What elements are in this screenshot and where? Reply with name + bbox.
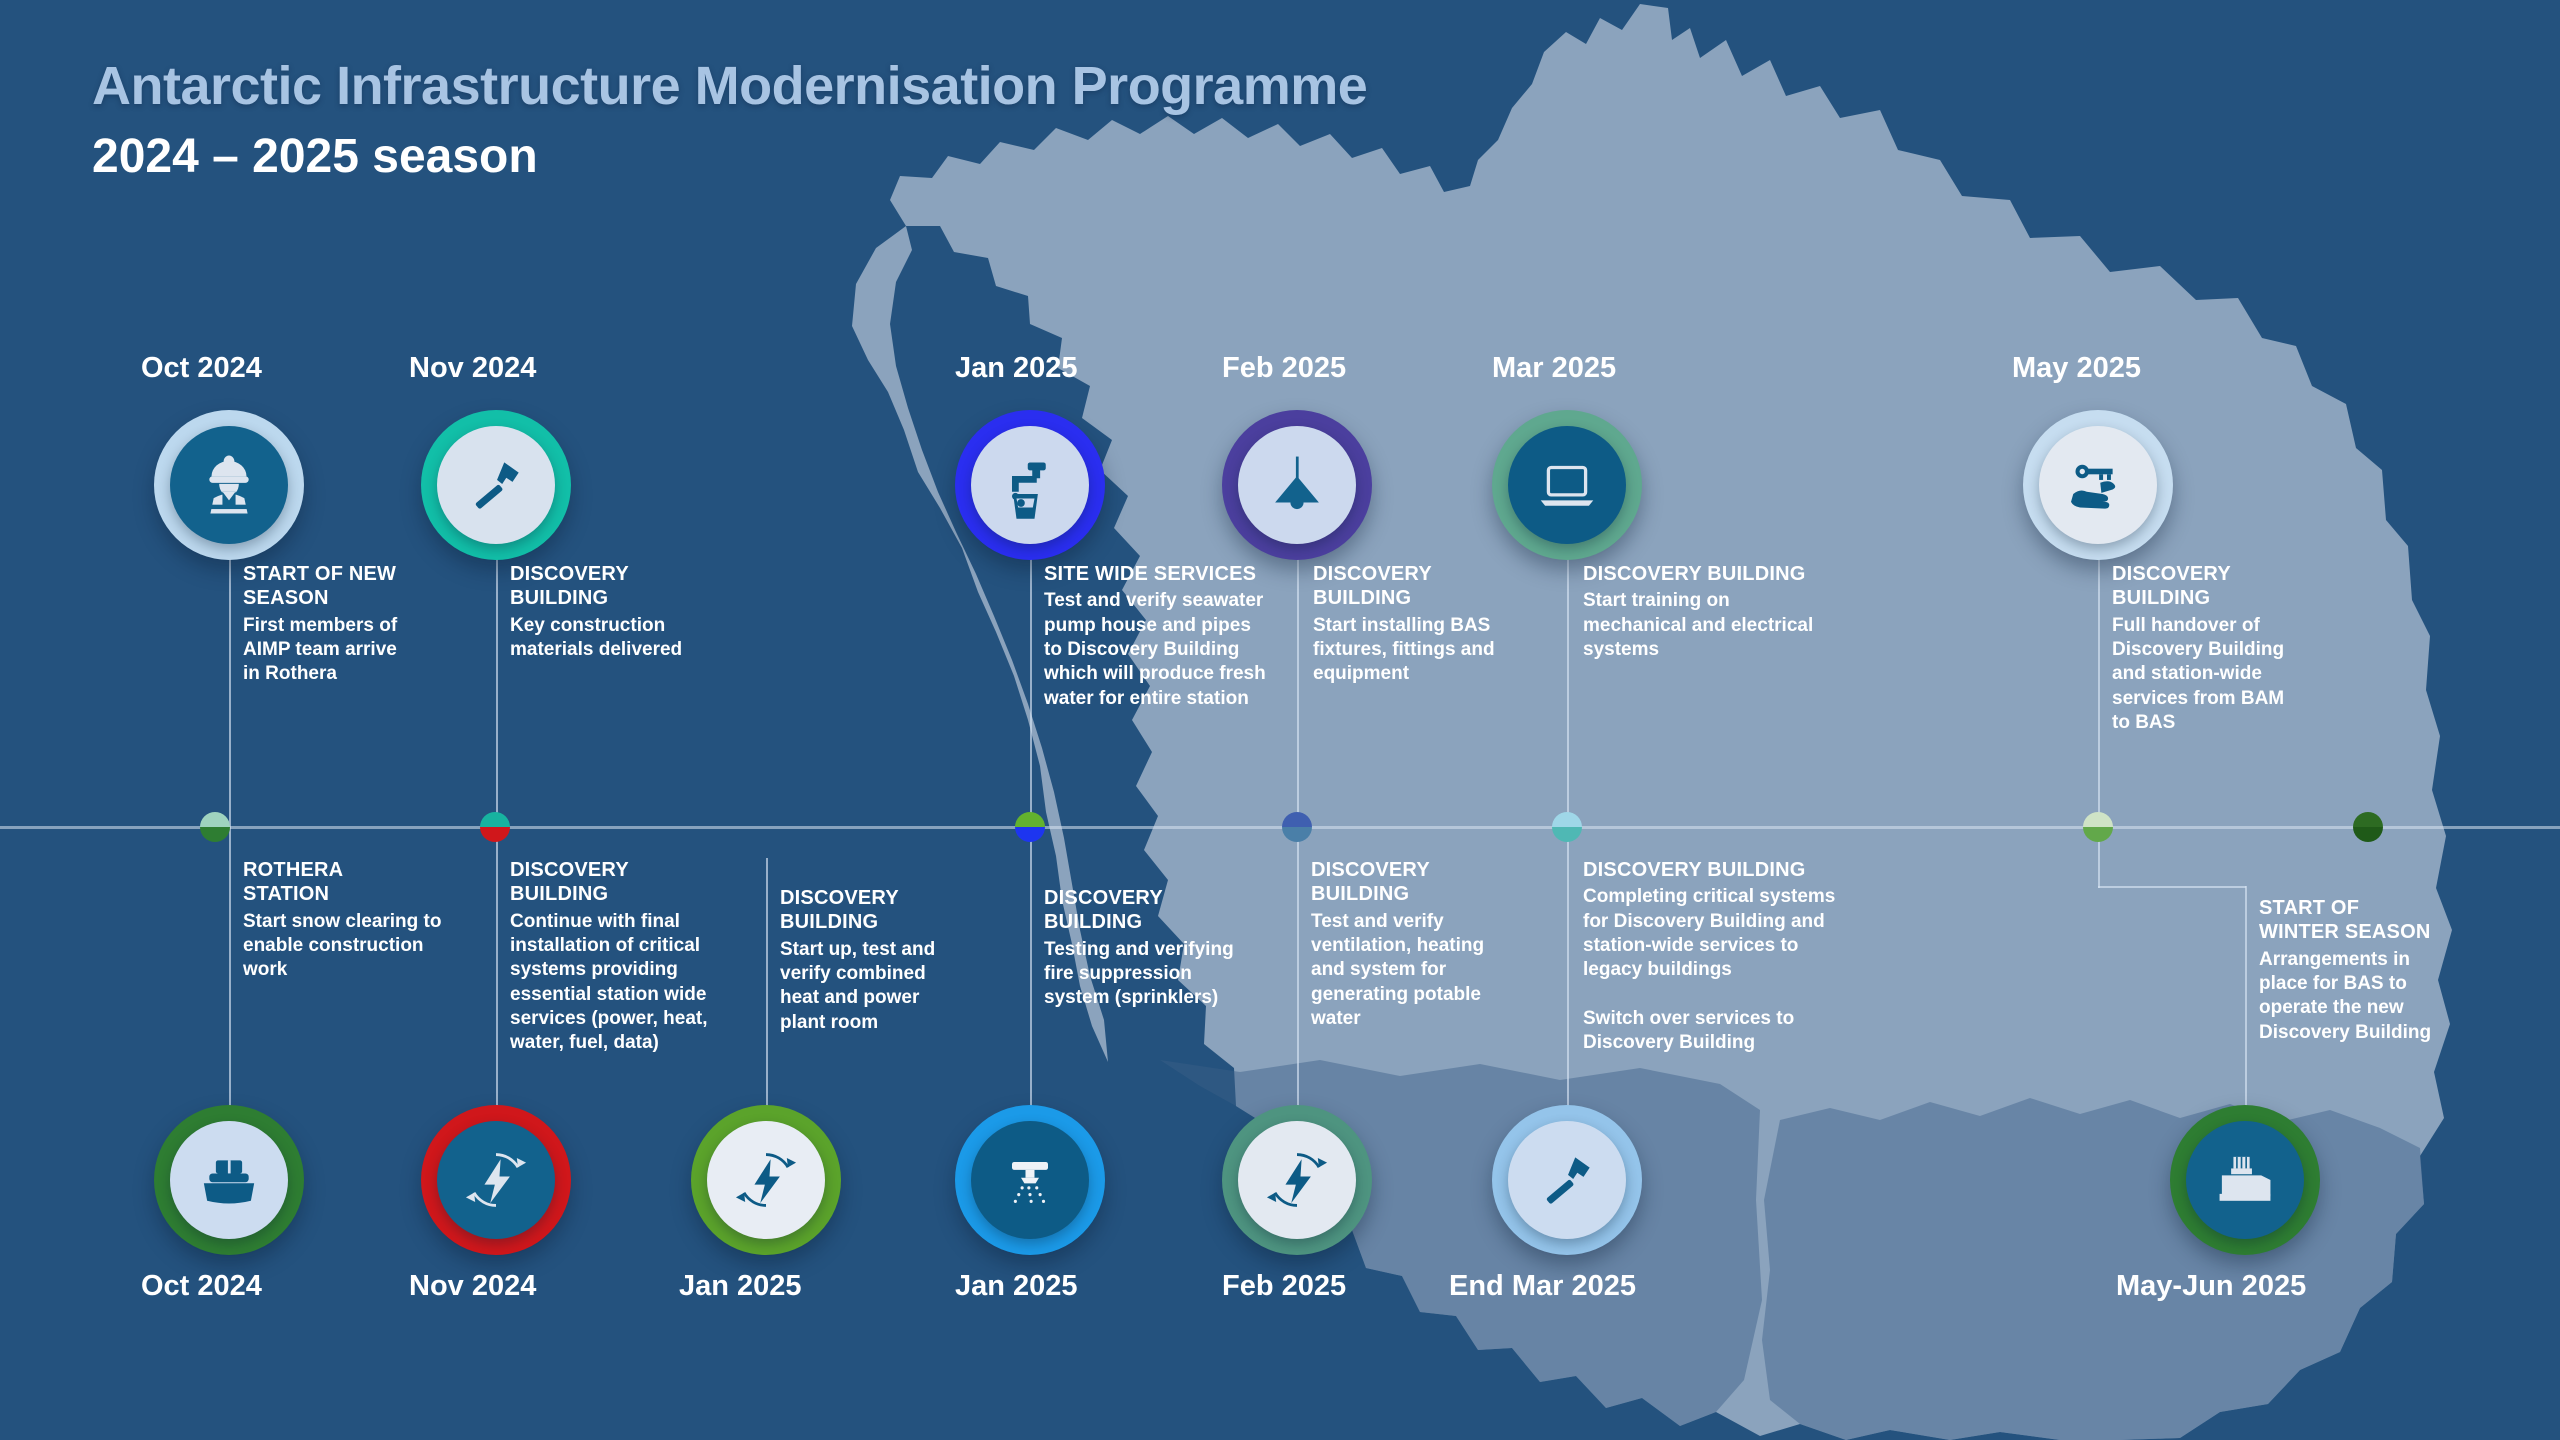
date-label-jan-2025-top: Jan 2025 <box>955 352 1078 385</box>
connector-mar-2025-bottom <box>1567 828 1569 1118</box>
connector-may-jun-2025-drop <box>2245 886 2247 1118</box>
text-block-may-jun-2025-bottom: START OF WINTER SEASON Arrangements in p… <box>2259 896 2479 1045</box>
connector-jan-2025-b-bottom <box>1030 828 1032 1118</box>
event-body: Test and verify seawater pump house and … <box>1044 589 1294 711</box>
timeline-dot-mar-2025[interactable] <box>1552 812 1582 842</box>
infographic-canvas: Antarctic Infrastructure Modernisation P… <box>0 0 2560 1440</box>
text-block-mar-2025-top: DISCOVERY BUILDING Start training on mec… <box>1583 562 1853 662</box>
power-cycle-icon <box>459 1143 533 1217</box>
power-cycle-icon <box>1260 1143 1334 1217</box>
event-title: DISCOVERY BUILDING <box>510 858 725 907</box>
pendant-lamp-icon <box>1262 450 1332 520</box>
timeline-dot-may-2025[interactable] <box>2083 812 2113 842</box>
construction-worker-icon <box>194 450 264 520</box>
icon-bubble-may-jun-2025-bottom[interactable] <box>2170 1105 2320 1255</box>
connector-feb-2025-top <box>1297 548 1299 828</box>
icon-bubble-nov-2024-top[interactable] <box>421 410 571 560</box>
connector-nov-2024-top <box>496 548 498 828</box>
event-body: First members of AIMP team arrive in Rot… <box>243 614 443 687</box>
research-station-icon <box>2208 1143 2282 1217</box>
map-shadow-lower-left <box>1160 1060 1762 1426</box>
timeline-dot-oct-2024[interactable] <box>200 812 230 842</box>
event-body: Continue with final installation of crit… <box>510 910 725 1056</box>
connector-mar-2025-top <box>1567 548 1569 828</box>
page-subtitle: 2024 – 2025 season <box>92 132 1367 182</box>
icon-bubble-oct-2024-bottom[interactable] <box>154 1105 304 1255</box>
event-title: DISCOVERY BUILDING <box>2112 562 2322 611</box>
event-body: Start installing BAS fixtures, fittings … <box>1313 614 1523 687</box>
connector-jan-2025-a-bottom <box>766 858 768 1118</box>
text-block-may-2025-top: DISCOVERY BUILDING Full handover of Disc… <box>2112 562 2322 735</box>
icon-bubble-may-2025-top[interactable] <box>2023 410 2173 560</box>
event-title: DISCOVERY BUILDING <box>1583 562 1853 586</box>
text-block-oct-2024-bottom: ROTHERA STATION Start snow clearing to e… <box>243 858 443 983</box>
snow-plough-icon <box>194 1145 264 1215</box>
text-block-jan-2025-top: SITE WIDE SERVICES Test and verify seawa… <box>1044 562 1294 711</box>
laptop-icon <box>1532 450 1602 520</box>
icon-bubble-feb-2025-bottom[interactable] <box>1222 1105 1372 1255</box>
event-title: START OF NEW SEASON <box>243 562 443 611</box>
icon-bubble-feb-2025-top[interactable] <box>1222 410 1372 560</box>
event-title: DISCOVERY BUILDING <box>1311 858 1516 907</box>
connector-nov-2024-bottom <box>496 828 498 1118</box>
text-block-nov-2024-top: DISCOVERY BUILDING Key construction mate… <box>510 562 710 662</box>
event-body: Test and verify ventilation, heating and… <box>1311 910 1516 1032</box>
text-block-jan-2025-b-bottom: DISCOVERY BUILDING Testing and verifying… <box>1044 886 1264 1011</box>
fire-sprinkler-icon <box>994 1144 1066 1216</box>
event-body: Arrangements in place for BAS to operate… <box>2259 948 2479 1045</box>
page-header: Antarctic Infrastructure Modernisation P… <box>92 58 1367 182</box>
icon-bubble-oct-2024-top[interactable] <box>154 410 304 560</box>
date-label-mar-2025-bottom: End Mar 2025 <box>1449 1270 1636 1303</box>
connector-oct-2024-bottom <box>229 828 231 1118</box>
connector-oct-2024-top <box>229 548 231 828</box>
date-label-may-jun-2025-bottom: May-Jun 2025 <box>2116 1270 2306 1303</box>
timeline-dot-feb-2025[interactable] <box>1282 812 1312 842</box>
event-body: Start training on mechanical and electri… <box>1583 589 1853 662</box>
date-label-nov-2024-bottom: Nov 2024 <box>409 1270 536 1303</box>
date-label-oct-2024-top: Oct 2024 <box>141 352 262 385</box>
key-handover-icon <box>2062 449 2134 521</box>
connector-feb-2025-bottom <box>1297 828 1299 1118</box>
event-title: START OF WINTER SEASON <box>2259 896 2479 945</box>
text-block-mar-2025-bottom: DISCOVERY BUILDING Completing critical s… <box>1583 858 1873 1056</box>
text-block-oct-2024-top: START OF NEW SEASON First members of AIM… <box>243 562 443 687</box>
event-body: Full handover of Discovery Building and … <box>2112 614 2322 736</box>
event-body: Start up, test and verify combined heat … <box>780 938 980 1035</box>
date-label-oct-2024-bottom: Oct 2024 <box>141 1270 262 1303</box>
text-block-feb-2025-top: DISCOVERY BUILDING Start installing BAS … <box>1313 562 1523 687</box>
event-title: DISCOVERY BUILDING <box>1583 858 1873 882</box>
connector-may-2025-top <box>2098 548 2100 828</box>
event-body: Testing and verifying fire suppression s… <box>1044 938 1264 1011</box>
event-body: Completing critical systems for Discover… <box>1583 885 1873 1055</box>
icon-bubble-mar-2025-top[interactable] <box>1492 410 1642 560</box>
text-block-jan-2025-a-bottom: DISCOVERY BUILDING Start up, test and ve… <box>780 886 980 1035</box>
event-title: ROTHERA STATION <box>243 858 443 907</box>
event-title: DISCOVERY BUILDING <box>510 562 710 611</box>
event-title: SITE WIDE SERVICES <box>1044 562 1294 586</box>
event-body: Key construction materials delivered <box>510 614 710 663</box>
timeline-dot-may-jun-2025[interactable] <box>2353 812 2383 842</box>
map-shadow-shelf <box>1762 1098 2424 1440</box>
event-title: DISCOVERY BUILDING <box>1313 562 1523 611</box>
icon-bubble-jan-2025-a-bottom[interactable] <box>691 1105 841 1255</box>
icon-bubble-jan-2025-b-bottom[interactable] <box>955 1105 1105 1255</box>
date-label-nov-2024-top: Nov 2024 <box>409 352 536 385</box>
hammer-icon <box>1534 1147 1600 1213</box>
hammer-icon <box>463 452 529 518</box>
event-body: Start snow clearing to enable constructi… <box>243 910 443 983</box>
text-block-nov-2024-bottom: DISCOVERY BUILDING Continue with final i… <box>510 858 725 1056</box>
date-label-may-2025-top: May 2025 <box>2012 352 2141 385</box>
timeline-dot-nov-2024[interactable] <box>480 812 510 842</box>
date-label-jan-2025-a-bottom: Jan 2025 <box>679 1270 802 1303</box>
text-block-feb-2025-bottom: DISCOVERY BUILDING Test and verify venti… <box>1311 858 1516 1031</box>
date-label-feb-2025-top: Feb 2025 <box>1222 352 1346 385</box>
connector-may-jun-2025-horizontal <box>2098 886 2246 888</box>
icon-bubble-nov-2024-bottom[interactable] <box>421 1105 571 1255</box>
tap-water-glass-icon <box>994 449 1066 521</box>
icon-bubble-jan-2025-top[interactable] <box>955 410 1105 560</box>
event-title: DISCOVERY BUILDING <box>1044 886 1264 935</box>
connector-jan-2025-top <box>1030 548 1032 828</box>
date-label-jan-2025-b-bottom: Jan 2025 <box>955 1270 1078 1303</box>
timeline-axis <box>0 826 2560 829</box>
date-label-feb-2025-bottom: Feb 2025 <box>1222 1270 1346 1303</box>
icon-bubble-mar-2025-bottom[interactable] <box>1492 1105 1642 1255</box>
timeline-dot-jan-2025[interactable] <box>1015 812 1045 842</box>
power-cycle-icon <box>729 1143 803 1217</box>
date-label-mar-2025-top: Mar 2025 <box>1492 352 1616 385</box>
event-title: DISCOVERY BUILDING <box>780 886 980 935</box>
page-title: Antarctic Infrastructure Modernisation P… <box>92 58 1367 114</box>
